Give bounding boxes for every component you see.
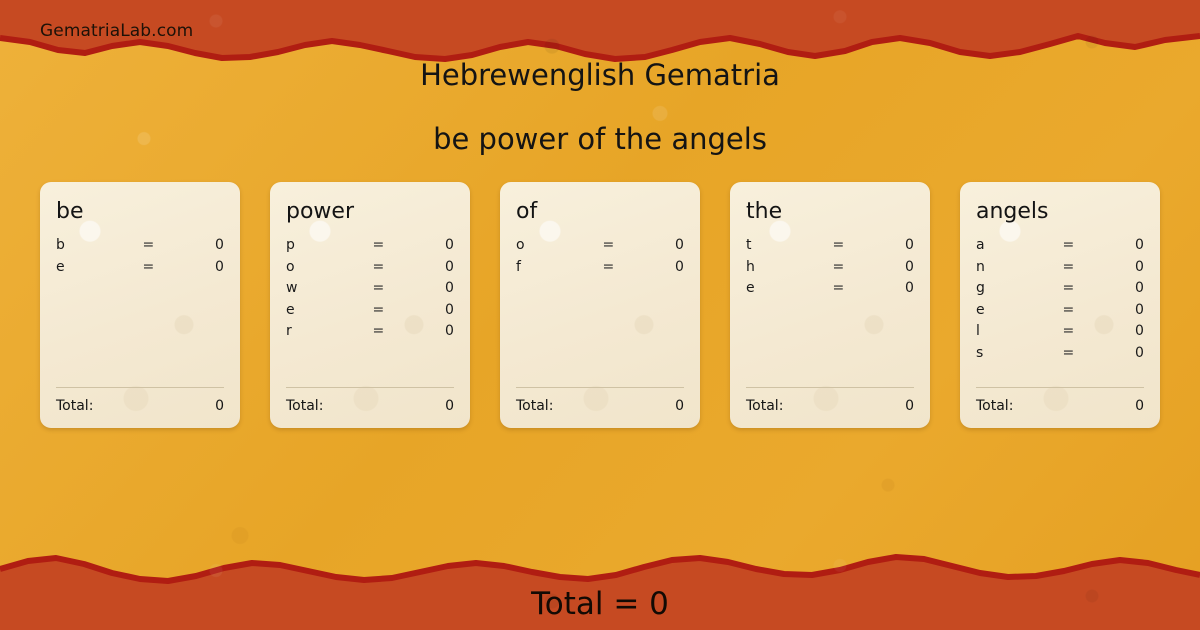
letter-value-list: b=0e=0 (56, 237, 224, 387)
word-card-title: angels (976, 200, 1144, 224)
equals-sign: = (130, 259, 167, 275)
letter-row: e=0 (746, 280, 914, 302)
letter-row: n=0 (976, 259, 1144, 281)
word-card[interactable]: ofo=0f=0Total:0 (500, 182, 700, 428)
site-name[interactable]: GematriaLab.com (40, 21, 193, 41)
equals-sign: = (1050, 323, 1087, 339)
letter-char: e (286, 302, 360, 318)
card-total-label: Total: (286, 398, 323, 414)
letter-value: 0 (857, 259, 914, 275)
letter-char: e (976, 302, 1050, 318)
letter-char: p (286, 237, 360, 253)
letter-value: 0 (1087, 237, 1144, 253)
letter-value: 0 (1087, 259, 1144, 275)
letter-char: f (516, 259, 590, 275)
card-total-row: Total:0 (746, 398, 914, 414)
card-total-value: 0 (1135, 398, 1144, 414)
word-card[interactable]: beb=0e=0Total:0 (40, 182, 240, 428)
letter-value: 0 (1087, 345, 1144, 361)
equals-sign: = (360, 259, 397, 275)
card-total-value: 0 (675, 398, 684, 414)
letter-char: g (976, 280, 1050, 296)
letter-char: e (746, 280, 820, 296)
letter-value: 0 (857, 280, 914, 296)
letter-value-list: p=0o=0w=0e=0r=0 (286, 237, 454, 387)
letter-row: e=0 (286, 302, 454, 324)
letter-char: o (516, 237, 590, 253)
letter-value: 0 (627, 237, 684, 253)
card-total-value: 0 (215, 398, 224, 414)
letter-value: 0 (167, 237, 224, 253)
letter-row: p=0 (286, 237, 454, 259)
equals-sign: = (360, 280, 397, 296)
word-card-title: be (56, 200, 224, 224)
letter-char: h (746, 259, 820, 275)
equals-sign: = (1050, 280, 1087, 296)
equals-sign: = (820, 259, 857, 275)
letter-row: h=0 (746, 259, 914, 281)
letter-row: b=0 (56, 237, 224, 259)
letter-char: l (976, 323, 1050, 339)
letter-value: 0 (857, 237, 914, 253)
equals-sign: = (1050, 345, 1087, 361)
letter-value-list: o=0f=0 (516, 237, 684, 387)
card-total-value: 0 (905, 398, 914, 414)
letter-value: 0 (397, 259, 454, 275)
letter-row: s=0 (976, 345, 1144, 367)
card-total-label: Total: (976, 398, 1013, 414)
card-divider (286, 387, 454, 388)
letter-row: l=0 (976, 323, 1144, 345)
equals-sign: = (360, 237, 397, 253)
equals-sign: = (1050, 237, 1087, 253)
letter-row: o=0 (516, 237, 684, 259)
letter-value: 0 (1087, 323, 1144, 339)
card-total-row: Total:0 (976, 398, 1144, 414)
word-card-title: of (516, 200, 684, 224)
card-divider (516, 387, 684, 388)
card-total-row: Total:0 (286, 398, 454, 414)
letter-char: b (56, 237, 130, 253)
letter-value: 0 (397, 323, 454, 339)
letter-char: a (976, 237, 1050, 253)
letter-value-list: a=0n=0g=0e=0l=0s=0 (976, 237, 1144, 387)
grand-total: Total = 0 (0, 586, 1200, 622)
bottom-band-edge-stroke (0, 557, 1200, 581)
card-total-label: Total: (516, 398, 553, 414)
equals-sign: = (590, 237, 627, 253)
letter-char: r (286, 323, 360, 339)
word-card-title: power (286, 200, 454, 224)
letter-char: n (976, 259, 1050, 275)
card-total-label: Total: (56, 398, 93, 414)
letter-row: f=0 (516, 259, 684, 281)
card-divider (56, 387, 224, 388)
equals-sign: = (360, 302, 397, 318)
card-total-row: Total:0 (516, 398, 684, 414)
letter-row: e=0 (56, 259, 224, 281)
letter-row: w=0 (286, 280, 454, 302)
gematria-poster: GematriaLab.com Hebrewenglish Gematria b… (0, 0, 1200, 630)
letter-value: 0 (1087, 280, 1144, 296)
card-divider (746, 387, 914, 388)
word-card-list: beb=0e=0Total:0powerp=0o=0w=0e=0r=0Total… (40, 182, 1160, 428)
letter-char: o (286, 259, 360, 275)
letter-char: e (56, 259, 130, 275)
equals-sign: = (820, 237, 857, 253)
page-title: Hebrewenglish Gematria (0, 58, 1200, 92)
letter-value: 0 (397, 280, 454, 296)
equals-sign: = (1050, 259, 1087, 275)
equals-sign: = (130, 237, 167, 253)
equals-sign: = (820, 280, 857, 296)
letter-row: t=0 (746, 237, 914, 259)
letter-row: a=0 (976, 237, 1144, 259)
phrase-subtitle: be power of the angels (0, 122, 1200, 156)
letter-value: 0 (627, 259, 684, 275)
equals-sign: = (1050, 302, 1087, 318)
letter-value: 0 (397, 237, 454, 253)
letter-value: 0 (397, 302, 454, 318)
letter-value-list: t=0h=0e=0 (746, 237, 914, 387)
card-total-label: Total: (746, 398, 783, 414)
letter-row: o=0 (286, 259, 454, 281)
word-card[interactable]: powerp=0o=0w=0e=0r=0Total:0 (270, 182, 470, 428)
letter-row: e=0 (976, 302, 1144, 324)
card-total-value: 0 (445, 398, 454, 414)
card-total-row: Total:0 (56, 398, 224, 414)
letter-char: s (976, 345, 1050, 361)
equals-sign: = (360, 323, 397, 339)
letter-value: 0 (167, 259, 224, 275)
word-card-title: the (746, 200, 914, 224)
letter-value: 0 (1087, 302, 1144, 318)
word-card[interactable]: thet=0h=0e=0Total:0 (730, 182, 930, 428)
letter-char: w (286, 280, 360, 296)
letter-row: r=0 (286, 323, 454, 345)
word-card[interactable]: angelsa=0n=0g=0e=0l=0s=0Total:0 (960, 182, 1160, 428)
letter-char: t (746, 237, 820, 253)
equals-sign: = (590, 259, 627, 275)
card-divider (976, 387, 1144, 388)
letter-row: g=0 (976, 280, 1144, 302)
